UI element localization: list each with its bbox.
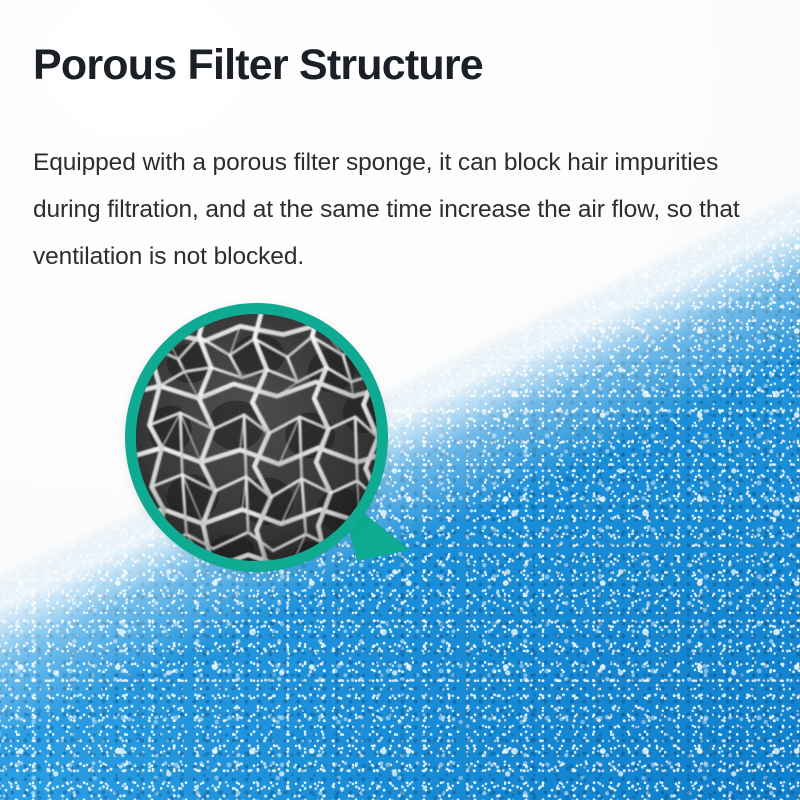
page-title: Porous Filter Structure xyxy=(33,42,733,88)
sponge-grain-coarse xyxy=(0,0,800,800)
magnified-foam-callout xyxy=(125,303,388,572)
callout-image-window xyxy=(136,314,377,561)
sem-porous-foam-micrograph xyxy=(136,314,377,561)
description-text: Equipped with a porous filter sponge, it… xyxy=(33,139,748,280)
blue-filter-sponge-photo xyxy=(0,0,800,800)
product-feature-slide: Porous Filter Structure Equipped with a … xyxy=(0,0,800,800)
